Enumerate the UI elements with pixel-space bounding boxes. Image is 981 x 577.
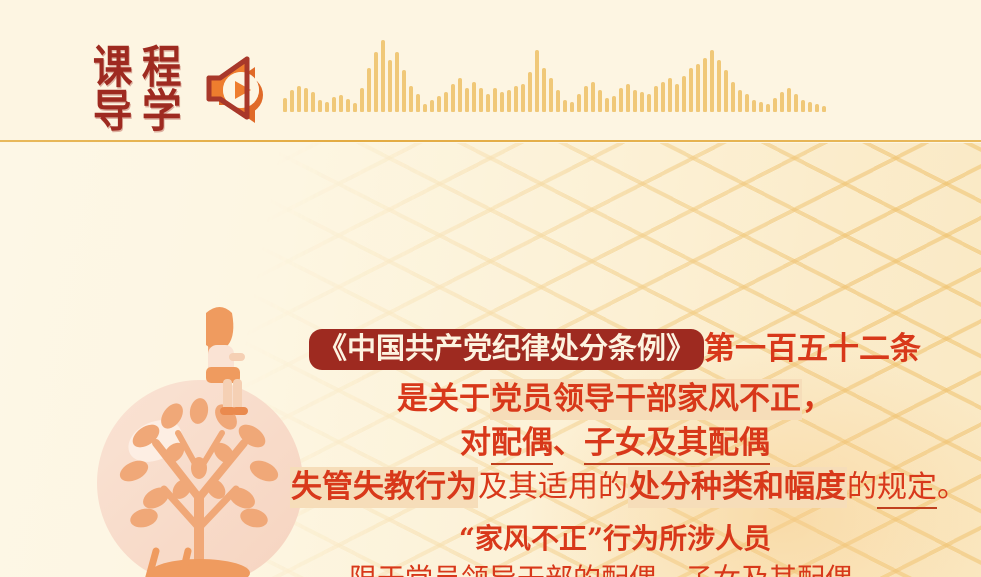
article-number: 第一百五十二条 (704, 331, 921, 367)
waveform-bar (416, 94, 420, 112)
waveform-bar (325, 102, 329, 112)
waveform-bar (801, 100, 805, 112)
line4-tail-prefix: 的 (847, 470, 877, 505)
waveform-bar (682, 76, 686, 112)
text-line-6: 限于党员领导干部的配偶、子女及其配偶， (290, 565, 940, 577)
waveform-bar (472, 82, 476, 112)
waveform-bar (759, 102, 763, 112)
waveform-bar (451, 84, 455, 112)
waveform-bar (605, 98, 609, 112)
waveform-bar (696, 64, 700, 112)
poster-root: 课 程 导 学 (0, 0, 981, 577)
waveform-bar (493, 88, 497, 112)
audio-waveform (283, 24, 917, 112)
waveform-bar (584, 86, 588, 112)
waveform-bar (479, 88, 483, 112)
waveform-bar (745, 94, 749, 112)
waveform-bar (654, 86, 658, 112)
waveform-bar (297, 86, 301, 112)
waveform-bar (304, 88, 308, 112)
waveform-bar (437, 96, 441, 112)
waveform-bar (822, 106, 826, 112)
waveform-bar (514, 86, 518, 112)
waveform-bar (500, 92, 504, 112)
logo-char-4: 学 (138, 89, 182, 135)
waveform-bar (717, 60, 721, 112)
regulation-title-badge: 《中国共产党纪律处分条例》 (309, 329, 704, 370)
waveform-bar (318, 100, 322, 112)
waveform-bar (374, 52, 378, 112)
waveform-bar (444, 92, 448, 112)
waveform-bar (353, 103, 357, 112)
content-area: 《中国共产党纪律处分条例》第一百五十二条 是关于党员领导干部家风不正， 对配偶、… (0, 143, 981, 577)
line4-highlight-1: 失管失教行为 (290, 467, 478, 508)
waveform-bar (640, 92, 644, 112)
line4-highlight-2: 处分种类和幅度 (628, 467, 847, 508)
speaker-play-icon[interactable] (197, 52, 271, 128)
waveform-bar (430, 100, 434, 112)
waveform-bar (598, 90, 602, 112)
waveform-bar (675, 84, 679, 112)
waveform-bar (549, 78, 553, 112)
line2-suffix: ， (802, 381, 833, 417)
waveform-bar (465, 88, 469, 112)
line3-prefix: 对 (460, 425, 491, 461)
line2-prefix: 是关于 (397, 381, 490, 417)
line4-tail-underline: 规定 (877, 470, 937, 509)
waveform-bar (703, 58, 707, 112)
waveform-bar (402, 70, 406, 112)
waveform-bar (633, 90, 637, 112)
text-line-1: 《中国共产党纪律处分条例》第一百五十二条 (290, 329, 940, 370)
waveform-bar (647, 94, 651, 112)
waveform-bar (290, 90, 294, 112)
waveform-bar (766, 104, 770, 112)
course-guidance-logo: 课 程 导 学 (88, 46, 184, 134)
header-bar: 课 程 导 学 (0, 0, 981, 142)
logo-char-3: 导 (90, 89, 134, 135)
waveform-bar (535, 50, 539, 112)
waveform-bar (731, 82, 735, 112)
waveform-bar (360, 88, 364, 112)
waveform-bar (626, 84, 630, 112)
waveform-bar (577, 94, 581, 112)
waveform-bar (458, 78, 462, 112)
waveform-bar (570, 102, 574, 112)
logo-char-1: 课 (90, 45, 134, 91)
waveform-bar (724, 70, 728, 112)
waveform-bar (311, 92, 315, 112)
header-divider (0, 140, 981, 142)
waveform-bar (346, 99, 350, 112)
line3-underline-1: 配偶 (491, 425, 553, 465)
waveform-bar (787, 88, 791, 112)
waveform-bar (381, 40, 385, 112)
line3-separator: 、 (553, 425, 584, 461)
waveform-bar (780, 92, 784, 112)
waveform-bar (794, 94, 798, 112)
text-line-2: 是关于党员领导干部家风不正， (290, 384, 940, 415)
waveform-bar (556, 90, 560, 112)
waveform-bar (395, 52, 399, 112)
line4-tail-suffix: 。 (937, 470, 967, 505)
waveform-bar (563, 100, 567, 112)
waveform-bar (619, 88, 623, 112)
waveform-bar (423, 104, 427, 112)
waveform-bar (521, 84, 525, 112)
waveform-bar (367, 68, 371, 112)
waveform-bar (409, 86, 413, 112)
waveform-bar (815, 104, 819, 112)
line3-underline-2: 子女及其配偶 (584, 425, 770, 465)
text-line-3: 对配偶、子女及其配偶 (290, 428, 940, 459)
waveform-bar (808, 102, 812, 112)
waveform-bar (752, 100, 756, 112)
line6-text: 限于党员领导干部的配偶、子女及其配偶， (349, 562, 881, 577)
waveform-bar (661, 82, 665, 112)
waveform-bar (612, 96, 616, 112)
text-line-4: 失管失教行为及其适用的处分种类和幅度的规定。 (290, 472, 940, 503)
waveform-bar (283, 98, 287, 112)
waveform-bar (738, 90, 742, 112)
line2-highlight: 党员领导干部家风不正 (490, 379, 802, 420)
waveform-bar (507, 90, 511, 112)
waveform-bar (332, 97, 336, 112)
waveform-bar (542, 68, 546, 112)
waveform-bar (773, 98, 777, 112)
logo-char-2: 程 (138, 45, 182, 91)
line4-middle: 及其适用的 (478, 470, 628, 505)
waveform-bar (528, 72, 532, 112)
waveform-bar (668, 78, 672, 112)
waveform-bar (689, 68, 693, 112)
waveform-bar (591, 82, 595, 112)
article-text-block: 《中国共产党纪律处分条例》第一百五十二条 是关于党员领导干部家风不正， 对配偶、… (290, 329, 940, 577)
line5-text: “家风不正”行为所涉人员 (459, 522, 771, 555)
waveform-bar (486, 94, 490, 112)
waveform-bar (710, 50, 714, 112)
waveform-bar (388, 60, 392, 112)
waveform-bar (339, 95, 343, 112)
text-line-5: “家风不正”行为所涉人员 (290, 525, 940, 553)
